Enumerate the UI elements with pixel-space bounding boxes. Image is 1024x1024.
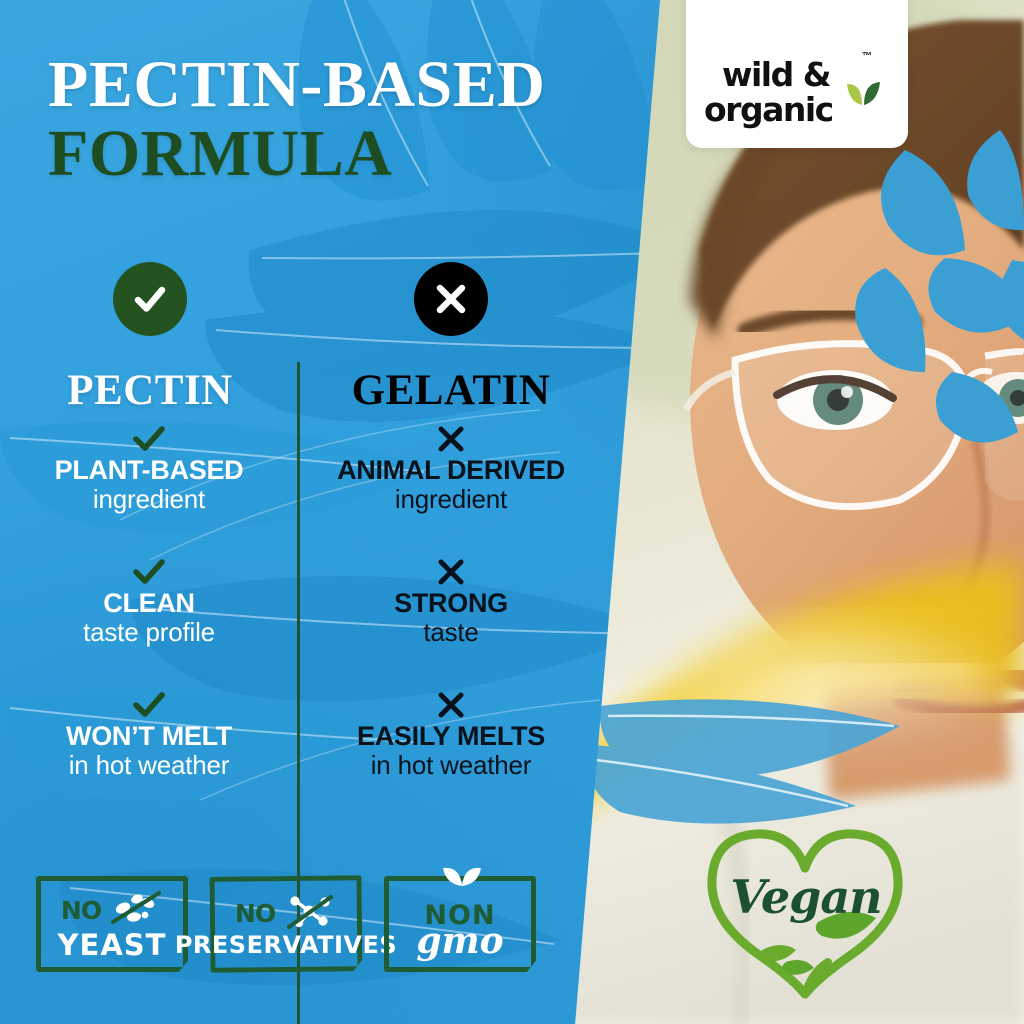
pectin-feature-2: CLEAN taste profile <box>4 555 294 646</box>
x-icon <box>306 688 596 722</box>
leaf-icon <box>440 864 484 893</box>
badge-main-label: PRESERVATIVES <box>175 933 397 957</box>
vegan-label: Vegan <box>726 870 886 924</box>
trademark-symbol: ™ <box>862 51 872 62</box>
molecule-crossed-icon <box>281 891 337 936</box>
vegan-badge: Vegan <box>700 822 910 1000</box>
gelatin-feature-1: ANIMAL DERIVED ingredient <box>306 422 596 513</box>
x-icon <box>306 555 596 589</box>
check-circle-icon <box>113 262 187 336</box>
comparison-section: PECTIN GELATIN PLANT-BASED ingredient <box>0 262 600 821</box>
badge-non-gmo: NON gmo <box>384 876 536 972</box>
comparison-row: WON’T MELT in hot weather EASILY MELTS i… <box>0 688 600 821</box>
check-icon <box>4 688 294 722</box>
feature-main: PLANT-BASED <box>4 456 294 485</box>
comparison-rows: PLANT-BASED ingredient ANIMAL DERIVED in… <box>0 422 600 821</box>
check-icon <box>4 422 294 456</box>
gelatin-feature-3: EASILY MELTS in hot weather <box>306 688 596 779</box>
feature-main: WON’T MELT <box>4 722 294 751</box>
check-icon <box>4 555 294 589</box>
page-title: PECTIN-BASED FORMULA <box>48 52 648 187</box>
infographic-canvas: PECTIN-BASED FORMULA PECTIN GELATIN <box>0 0 1024 1024</box>
badge-no-preservatives: NO <box>210 876 362 972</box>
headline-line-1: PECTIN-BASED <box>48 52 648 117</box>
feature-main: CLEAN <box>4 589 294 618</box>
feature-main: EASILY MELTS <box>306 722 596 751</box>
column-title-gelatin: GELATIN <box>321 366 581 415</box>
badge-small-label: NO <box>235 899 275 928</box>
certification-badges: NO YE <box>36 876 536 972</box>
badge-main-label: gmo <box>416 923 503 959</box>
x-circle-icon <box>414 262 488 336</box>
yeast-cells-crossed-icon <box>107 888 163 933</box>
feature-sub: taste <box>306 618 596 647</box>
x-icon <box>306 422 596 456</box>
column-title-pectin: PECTIN <box>20 366 280 415</box>
feature-sub: ingredient <box>4 485 294 514</box>
feature-sub: in hot weather <box>306 751 596 780</box>
comparison-row: PLANT-BASED ingredient ANIMAL DERIVED in… <box>0 422 600 555</box>
feature-main: ANIMAL DERIVED <box>306 456 596 485</box>
gelatin-feature-2: STRONG taste <box>306 555 596 646</box>
headline-line-2: FORMULA <box>48 121 648 186</box>
feature-sub: taste profile <box>4 618 294 647</box>
brand-logo: ™ wild & organic <box>686 0 908 148</box>
pectin-feature-3: WON’T MELT in hot weather <box>4 688 294 779</box>
pectin-feature-1: PLANT-BASED ingredient <box>4 422 294 513</box>
feature-sub: ingredient <box>306 485 596 514</box>
logo-leaf-icon <box>844 80 882 106</box>
feature-main: STRONG <box>306 589 596 618</box>
comparison-headers: PECTIN GELATIN <box>0 262 600 422</box>
badge-small-label: NO <box>61 896 101 925</box>
feature-sub: in hot weather <box>4 751 294 780</box>
comparison-row: CLEAN taste profile STRONG taste <box>0 555 600 688</box>
badge-no-yeast: NO YE <box>36 876 188 972</box>
badge-main-label: YEAST <box>58 931 167 960</box>
